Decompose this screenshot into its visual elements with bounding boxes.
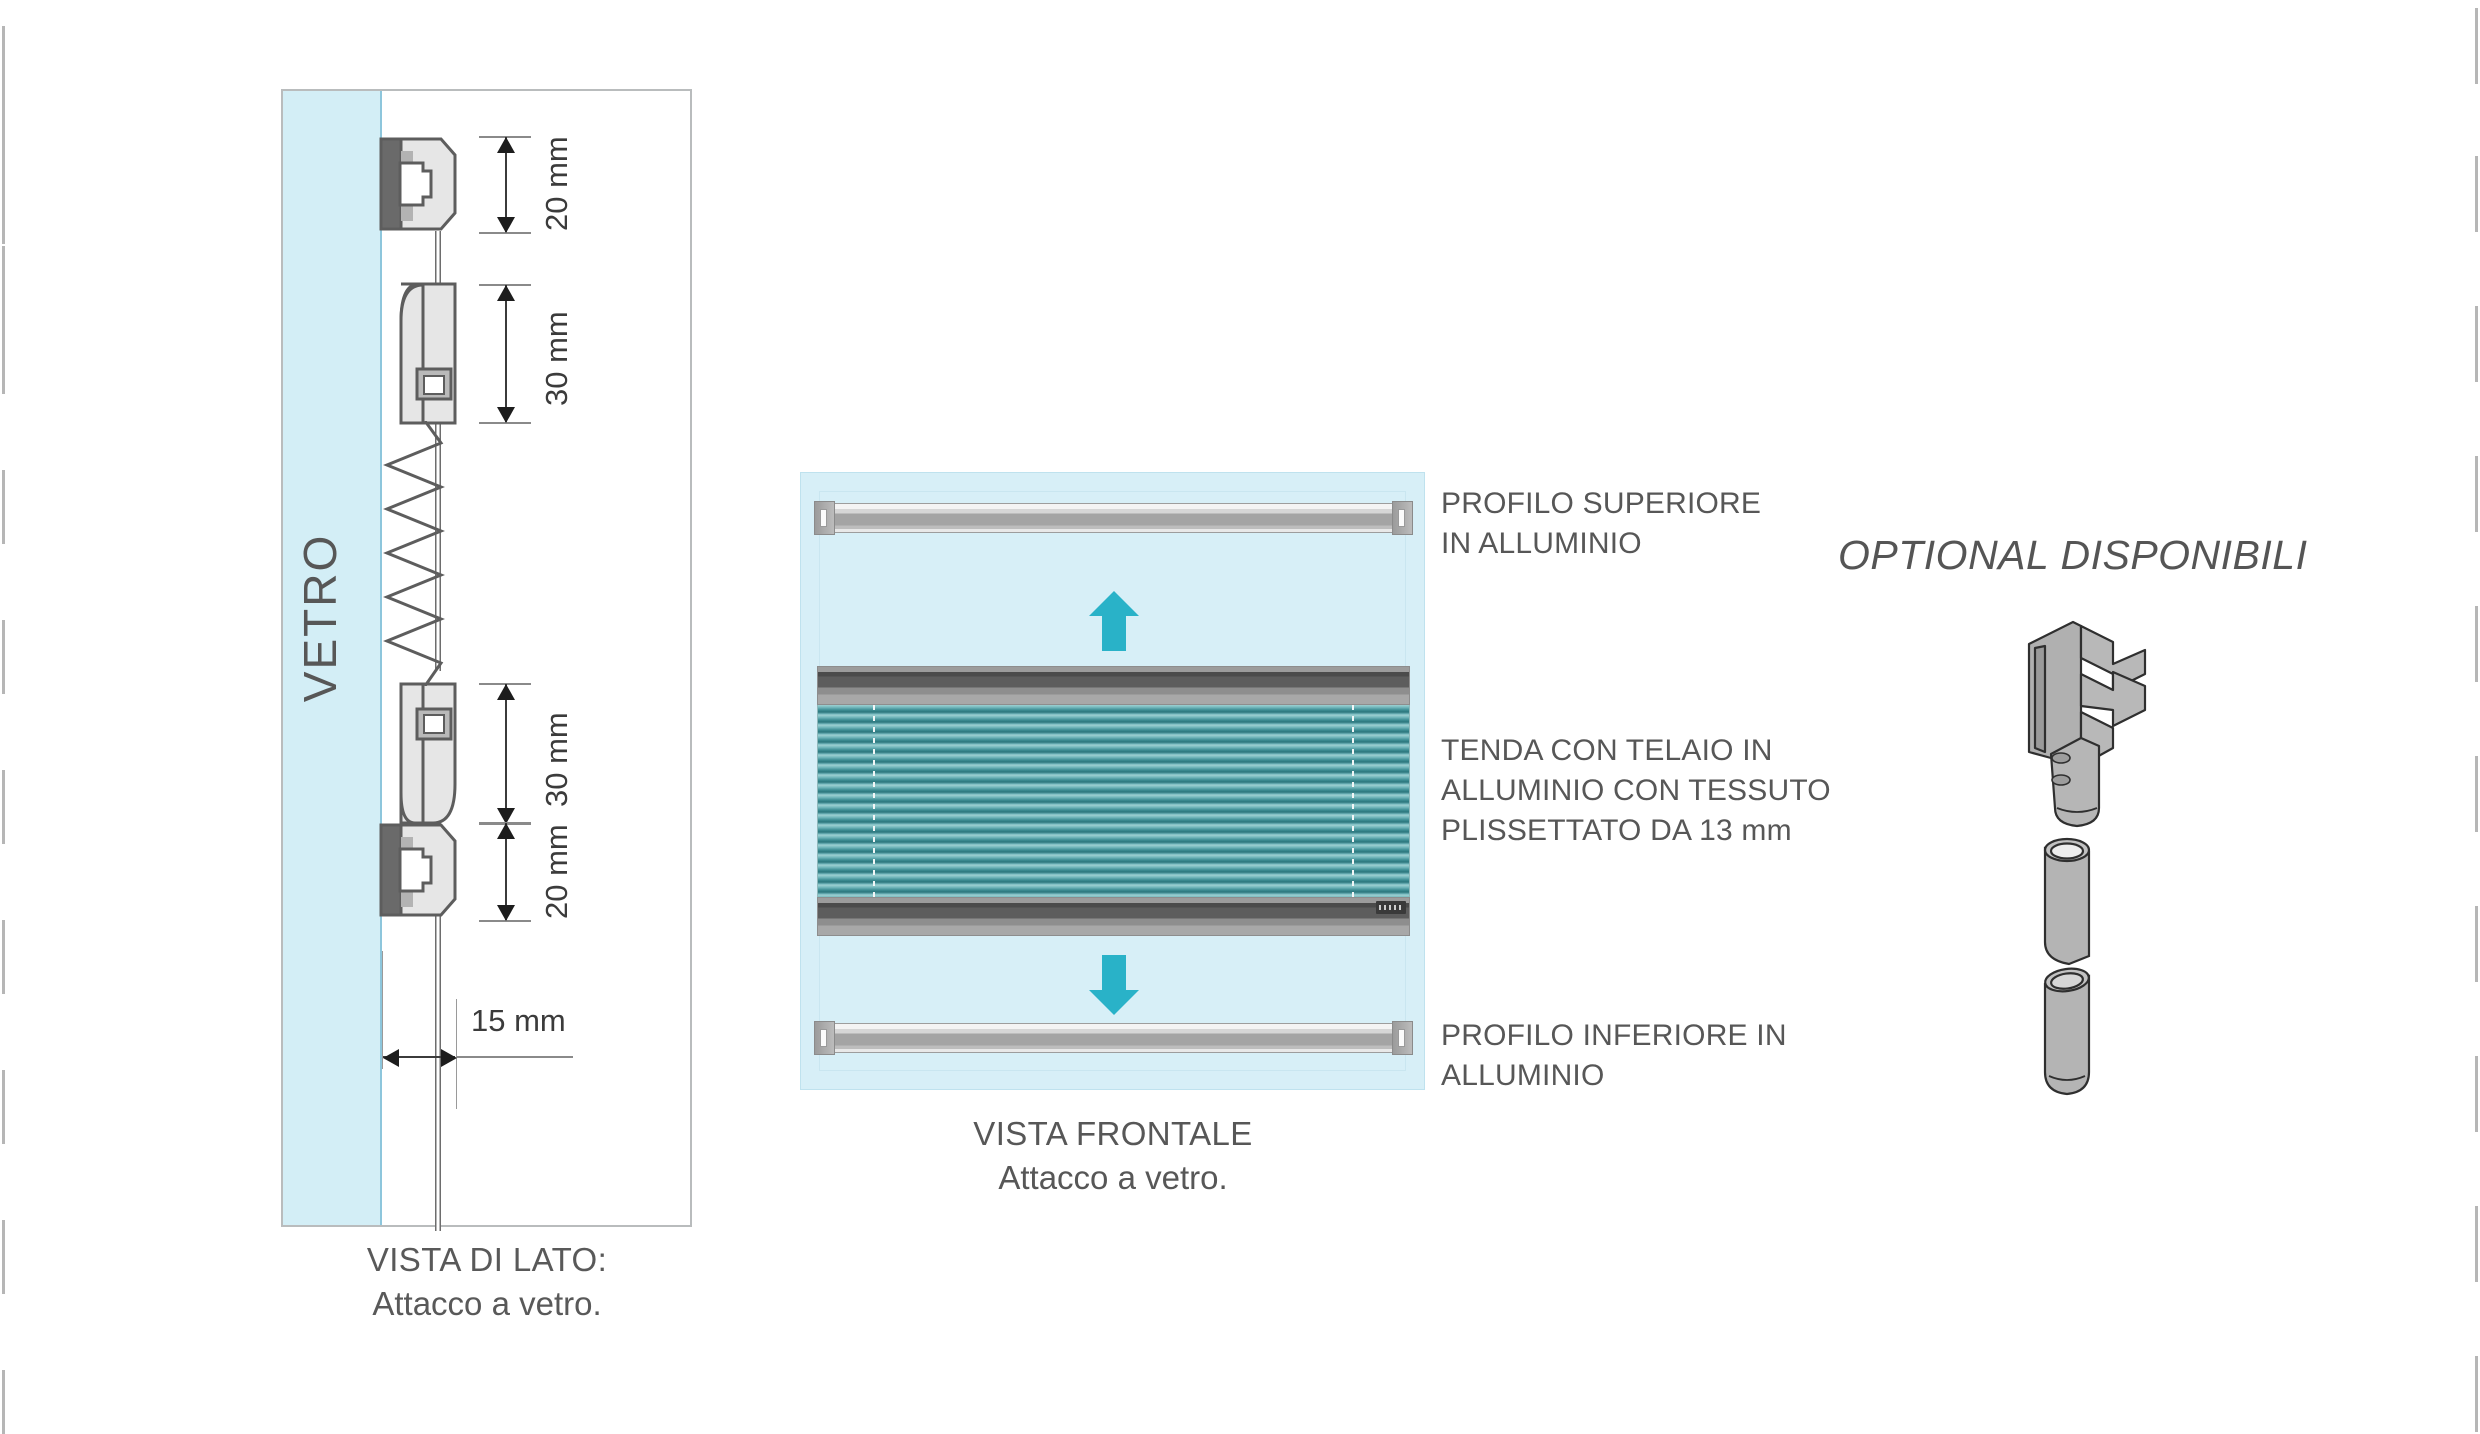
bracket-upper-30mm — [379, 281, 457, 426]
arrow-down-icon — [1088, 953, 1140, 1017]
dim-arrowhead — [497, 137, 515, 153]
bracket-bottom-20mm — [379, 821, 457, 919]
annotation-middle-line1: TENDA CON TELAIO IN — [1441, 731, 1831, 771]
dim-arrowhead — [497, 684, 515, 700]
dim-line-30mm-lower — [505, 684, 507, 823]
page-edge-tick — [2, 26, 5, 102]
rail-cap-slot — [1398, 1029, 1405, 1047]
page-edge-tick — [2475, 1206, 2478, 1282]
page-edge-tick — [2, 1370, 5, 1434]
page-edge-tick — [2, 920, 5, 994]
diagram-canvas: VETRO — [0, 0, 2480, 1434]
dim-arrowhead — [497, 905, 515, 921]
annotation-bottom-line2: ALLUMINIO — [1441, 1056, 1787, 1096]
sleeve-upper-icon — [2023, 830, 2133, 970]
page-edge-tick — [2, 98, 5, 172]
bracket-clip-icon — [1995, 612, 2195, 852]
optional-section-title: OPTIONAL DISPONIBILI — [1838, 532, 2308, 579]
annotation-middle-line2: ALLUMINIO CON TESSUTO — [1441, 771, 1831, 811]
rail-end-cap-right — [1392, 1021, 1413, 1055]
page-edge-tick — [2, 770, 5, 844]
bracket-lower-30mm — [379, 681, 457, 826]
annotation-top-profile: PROFILO SUPERIORE IN ALLUMINIO — [1441, 484, 1761, 564]
rail-end-cap-right — [1392, 501, 1413, 535]
dim-arrowhead — [497, 407, 515, 423]
pleated-fabric — [817, 705, 1410, 897]
optional-parts-illustration — [1995, 612, 2255, 1102]
front-view-caption-line1: VISTA FRONTALE — [918, 1112, 1308, 1156]
brand-logo-badge — [1376, 901, 1406, 914]
rail-body — [817, 1023, 1410, 1053]
annotation-middle-line3: PLISSETTATO DA 13 mm — [1441, 811, 1831, 851]
front-view-panel — [800, 472, 1425, 1090]
rail-body — [817, 503, 1410, 533]
page-edge-tick — [2, 1220, 5, 1294]
page-edge-tick — [2475, 606, 2478, 682]
dim-arrowhead — [497, 823, 515, 839]
rail-cap-slot — [1398, 509, 1405, 527]
dim-cap — [457, 1056, 573, 1058]
annotation-fabric: TENDA CON TELAIO IN ALLUMINIO CON TESSUT… — [1441, 731, 1831, 852]
front-view-caption: VISTA FRONTALE Attacco a vetro. — [918, 1112, 1308, 1199]
dim-label-20mm-bottom: 20 mm — [539, 824, 575, 919]
bottom-aluminium-profile — [817, 1023, 1410, 1053]
side-view-caption: VISTA DI LATO: Attacco a vetro. — [327, 1238, 647, 1325]
page-edge-tick — [2475, 156, 2478, 232]
rail-end-cap-left — [814, 501, 835, 535]
blind-bottom-rail-body — [817, 897, 1410, 936]
page-edge-tick — [2, 246, 5, 320]
sleeve-lower-icon — [2023, 954, 2133, 1104]
page-edge-tick — [2, 1070, 5, 1144]
headrail-profile — [817, 666, 1410, 705]
page-edge-tick — [2475, 1056, 2478, 1132]
blind-bottom-rail — [817, 897, 1410, 936]
annotation-top-line2: IN ALLUMINIO — [1441, 524, 1761, 564]
page-edge-tick — [2, 170, 5, 244]
dim-line-30mm-upper — [505, 285, 507, 422]
dim-arrowhead — [497, 285, 515, 301]
page-edge-tick — [2, 620, 5, 694]
pleated-fabric-section — [381, 421, 451, 686]
page-edge-tick — [2475, 906, 2478, 982]
dim-arrowhead — [497, 217, 515, 233]
annotation-bottom-profile: PROFILO INFERIORE IN ALLUMINIO — [1441, 1016, 1787, 1096]
fabric-cord-right — [1352, 705, 1354, 897]
fabric-cord-left — [873, 705, 875, 897]
dim-arrowhead — [441, 1049, 457, 1067]
front-view-caption-line2: Attacco a vetro. — [918, 1156, 1308, 1200]
top-aluminium-profile — [817, 503, 1410, 533]
annotation-bottom-line1: PROFILO INFERIORE IN — [1441, 1016, 1787, 1056]
side-view-caption-line2: Attacco a vetro. — [327, 1282, 647, 1326]
arrow-up-icon — [1088, 589, 1140, 653]
page-edge-tick — [2, 470, 5, 544]
page-edge-tick — [2475, 306, 2478, 382]
headrail-body — [817, 666, 1410, 705]
rail-cap-slot — [820, 1029, 827, 1047]
dim-arrowhead — [383, 1049, 399, 1067]
side-view-caption-line1: VISTA DI LATO: — [327, 1238, 647, 1282]
dim-label-30mm-upper: 30 mm — [539, 311, 575, 406]
rail-end-cap-left — [814, 1021, 835, 1055]
bracket-top-20mm — [379, 135, 457, 233]
side-view-panel: VETRO — [281, 89, 692, 1227]
page-edge-tick — [2475, 756, 2478, 832]
dim-label-30mm-lower: 30 mm — [539, 712, 575, 807]
rail-cap-slot — [820, 509, 827, 527]
page-edge-tick — [2, 320, 5, 394]
dim-label-15mm: 15 mm — [471, 1003, 566, 1039]
page-edge-tick — [2475, 8, 2478, 84]
page-edge-tick — [2475, 456, 2478, 532]
annotation-top-line1: PROFILO SUPERIORE — [1441, 484, 1761, 524]
glass-label: VETRO — [293, 488, 347, 748]
dim-label-20mm-top: 20 mm — [539, 136, 575, 231]
page-edge-tick — [2475, 1356, 2478, 1432]
